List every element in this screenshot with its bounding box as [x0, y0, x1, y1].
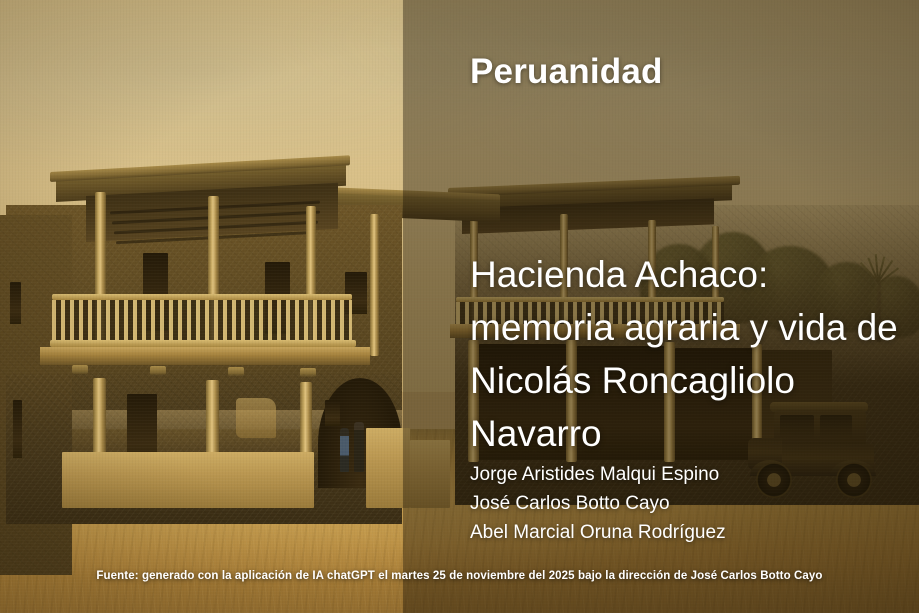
arch-window	[325, 400, 340, 426]
ground-window	[13, 400, 22, 458]
author-name: José Carlos Botto Cayo	[470, 489, 890, 518]
wall-patch	[236, 398, 276, 438]
standing-figure	[354, 422, 364, 472]
balcony-corbel	[72, 365, 88, 374]
balcony-floor	[40, 347, 370, 365]
kicker-peruanidad: Peruanidad	[470, 52, 663, 92]
front-plinth-wall	[410, 440, 450, 508]
balcony-rail-bottom	[50, 340, 356, 347]
front-plinth-wall	[366, 428, 410, 508]
author-list: Jorge Aristides Malqui Espino José Carlo…	[470, 460, 890, 547]
front-plinth-wall	[62, 452, 314, 508]
author-name: Abel Marcial Oruna Rodríguez	[470, 518, 890, 547]
side-window	[10, 282, 21, 324]
loggia-column	[370, 214, 379, 356]
page-title: Hacienda Achaco: memoria agraria y vida …	[470, 248, 900, 460]
source-caption: Fuente: generado con la aplicación de IA…	[0, 570, 919, 582]
author-name: Jorge Aristides Malqui Espino	[470, 460, 890, 489]
standing-figure	[340, 428, 349, 472]
title-slide: Peruanidad Hacienda Achaco: memoria agra…	[0, 0, 919, 613]
balcony-balusters	[52, 300, 352, 340]
